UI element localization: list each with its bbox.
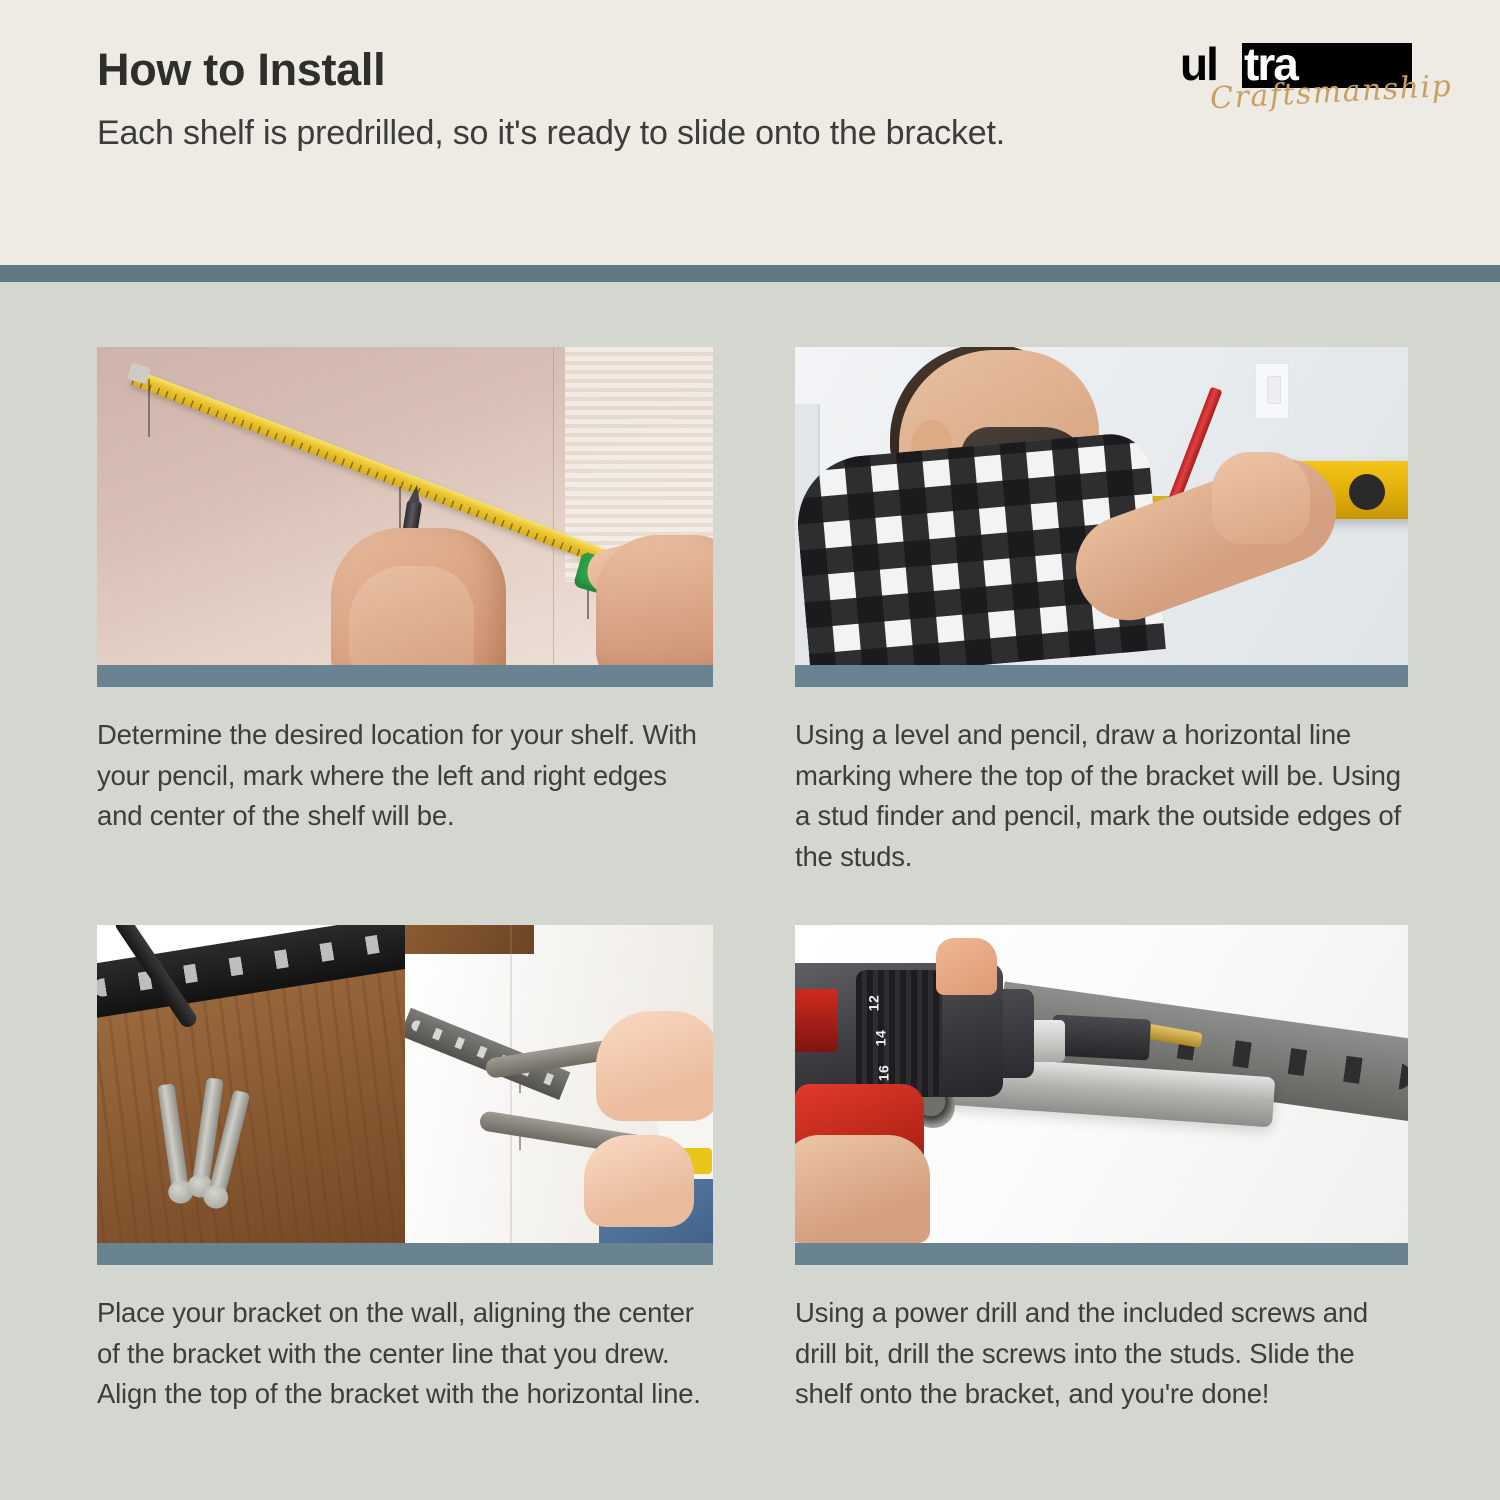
photo-power-drill: 12 14 16 <box>795 925 1408 1243</box>
step-caption-4: Using a power drill and the included scr… <box>795 1293 1408 1415</box>
person-hand <box>1212 452 1310 544</box>
step-figure-4: 12 14 16 <box>795 925 1408 1265</box>
drill-bit-holder <box>1051 1015 1151 1061</box>
step-card-3: Place your bracket on the wall, aligning… <box>97 925 713 1415</box>
steps-grid: Determine the desired location for your … <box>0 282 1500 1500</box>
step-figure-3 <box>97 925 713 1265</box>
hand-upper <box>596 1011 713 1121</box>
figure-bottom-bar-2 <box>795 665 1408 687</box>
brand-logo: ul tra Craftsmanship <box>1180 36 1412 136</box>
step-caption-2: Using a level and pencil, draw a horizon… <box>795 715 1408 878</box>
page-subtitle: Each shelf is predrilled, so it's ready … <box>97 111 1097 156</box>
hand-left <box>331 528 506 665</box>
drill-brand-label <box>795 989 838 1053</box>
step-figure-1 <box>97 347 713 687</box>
photo-tape-measure <box>97 347 713 665</box>
clutch-number-12: 12 <box>866 995 882 1012</box>
step-caption-1: Determine the desired location for your … <box>97 715 713 837</box>
step-figure-2 <box>795 347 1408 687</box>
photo-shelf-with-screws <box>97 925 405 1243</box>
header-text-block: How to Install Each shelf is predrilled,… <box>97 46 1097 156</box>
install-instructions-page: How to Install Each shelf is predrilled,… <box>0 0 1500 1500</box>
header-divider <box>0 265 1500 282</box>
step-caption-3: Place your bracket on the wall, aligning… <box>97 1293 713 1415</box>
step-card-4: 12 14 16 Using a power drill and the inc… <box>795 925 1408 1415</box>
wall-corner <box>510 925 512 1243</box>
pencil-mark-left <box>148 379 150 437</box>
step-card-1: Determine the desired location for your … <box>97 347 713 837</box>
photo-bracket-on-wall <box>405 925 713 1243</box>
hand-lower <box>584 1135 694 1227</box>
wall-seam <box>553 347 554 665</box>
hand-right <box>596 535 713 665</box>
level-vial-round <box>1349 474 1385 510</box>
page-title: How to Install <box>97 46 1097 93</box>
figure-bottom-bar-4 <box>795 1243 1408 1265</box>
clutch-number-16: 16 <box>875 1065 891 1082</box>
clutch-number-14: 14 <box>872 1030 888 1047</box>
header-band: How to Install Each shelf is predrilled,… <box>0 0 1500 265</box>
drill-clutch-ring <box>856 970 942 1097</box>
photo-level-and-pencil <box>795 347 1408 665</box>
figure-bottom-bar-3 <box>97 1243 713 1265</box>
step-card-2: Using a level and pencil, draw a horizon… <box>795 347 1408 878</box>
supporting-fingers <box>936 938 997 995</box>
wall-switch-plate <box>1255 363 1289 419</box>
photo-bracket-split <box>97 925 713 1243</box>
wood-edge-top <box>405 925 534 954</box>
pencil-mark-center <box>399 487 401 533</box>
gripping-hand <box>795 1135 930 1243</box>
figure-bottom-bar-1 <box>97 665 713 687</box>
